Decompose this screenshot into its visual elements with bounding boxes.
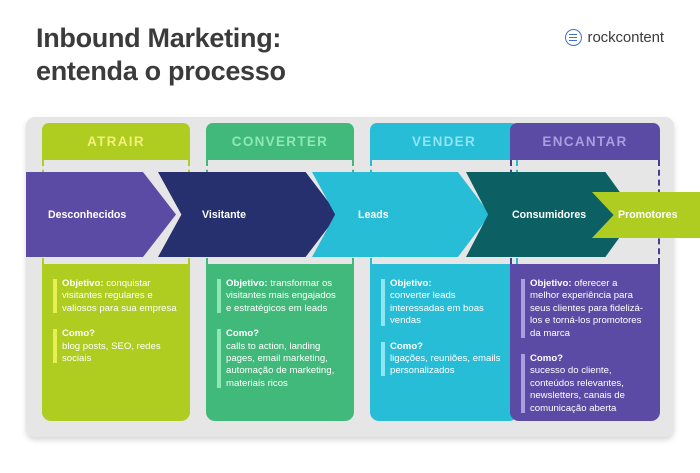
page-header: Inbound Marketing: entenda o processo ro…: [0, 0, 700, 112]
stage-tab-label: CONVERTER: [232, 134, 328, 149]
page-title: Inbound Marketing: entenda o processo: [36, 22, 286, 88]
stage-column-converter: CONVERTER Objetivo: transformar os visit…: [206, 117, 354, 437]
stage-column-encantar: ENCANTAR Objetivo: oferecer a melhor exp…: [510, 117, 660, 437]
brand-logo: rockcontent: [565, 29, 664, 46]
stage-panel-converter: Objetivo: transformar os visitantes mais…: [206, 264, 354, 421]
objective-heading: Objetivo:: [390, 278, 432, 289]
document-lines-circle-icon: [565, 29, 582, 46]
funnel-stage-consumidores: Consumidores: [466, 172, 636, 257]
funnel-label: Promotores: [618, 209, 677, 221]
objective-heading: Objetivo:: [226, 278, 268, 289]
how-text: sucesso do cliente, conteúdos relevantes…: [530, 365, 625, 413]
funnel-flow: Desconhecidos Visitante Leads Consumidor…: [26, 172, 674, 272]
how-heading: Como?: [530, 353, 563, 364]
funnel-label: Visitante: [202, 209, 246, 221]
objective-heading: Objetivo:: [530, 278, 572, 289]
objective-heading: Objetivo:: [62, 278, 104, 289]
how-block: Como?blog posts, SEO, redes sociais: [53, 328, 179, 365]
how-block: Como? ligações, reuniões, emails persona…: [381, 341, 507, 378]
stage-tab-encantar[interactable]: ENCANTAR: [510, 123, 660, 160]
stage-column-atrair: ATRAIR Objetivo: conquistar visitantes r…: [42, 117, 190, 437]
objective-block: Objetivo: transformar os visitantes mais…: [217, 278, 343, 315]
funnel-label: Consumidores: [512, 209, 586, 221]
stage-tab-label: ATRAIR: [87, 134, 145, 149]
how-block: Como?sucesso do cliente, conteúdos relev…: [521, 353, 649, 415]
objective-block: Objetivo: oferecer a melhor experiência …: [521, 278, 649, 340]
funnel-stage-leads: Leads: [312, 172, 490, 257]
stage-tab-vender[interactable]: VENDER: [370, 123, 518, 160]
stage-tab-label: ENCANTAR: [542, 134, 627, 149]
stage-panel-atrair: Objetivo: conquistar visitantes regulare…: [42, 264, 190, 421]
infographic-board: ATRAIR Objetivo: conquistar visitantes r…: [26, 117, 674, 437]
stage-tab-atrair[interactable]: ATRAIR: [42, 123, 190, 160]
stage-tab-converter[interactable]: CONVERTER: [206, 123, 354, 160]
how-text: calls to action, landing pages, email ma…: [226, 341, 334, 389]
stage-panel-vender: Objetivo:converter leads interessadas em…: [370, 264, 518, 421]
objective-text: converter leads interessadas em boas ven…: [390, 290, 484, 326]
stage-panel-encantar: Objetivo: oferecer a melhor experiência …: [510, 264, 660, 421]
how-text: blog posts, SEO, redes sociais: [62, 341, 161, 364]
stage-tab-label: VENDER: [412, 134, 476, 149]
funnel-label: Desconhecidos: [48, 209, 126, 221]
funnel-label: Leads: [358, 209, 389, 221]
objective-block: Objetivo: conquistar visitantes regulare…: [53, 278, 179, 315]
how-text: ligações, reuniões, emails personalizado…: [390, 353, 500, 376]
how-block: Como?calls to action, landing pages, ema…: [217, 328, 343, 390]
how-heading: Como?: [390, 341, 423, 352]
how-heading: Como?: [62, 328, 95, 339]
brand-name: rockcontent: [588, 29, 664, 46]
objective-block: Objetivo:converter leads interessadas em…: [381, 278, 507, 328]
how-heading: Como?: [226, 328, 259, 339]
funnel-stage-desconhecidos: Desconhecidos: [26, 172, 176, 257]
stage-column-vender: VENDER Objetivo:converter leads interess…: [370, 117, 518, 437]
funnel-stage-visitante: Visitante: [158, 172, 338, 257]
